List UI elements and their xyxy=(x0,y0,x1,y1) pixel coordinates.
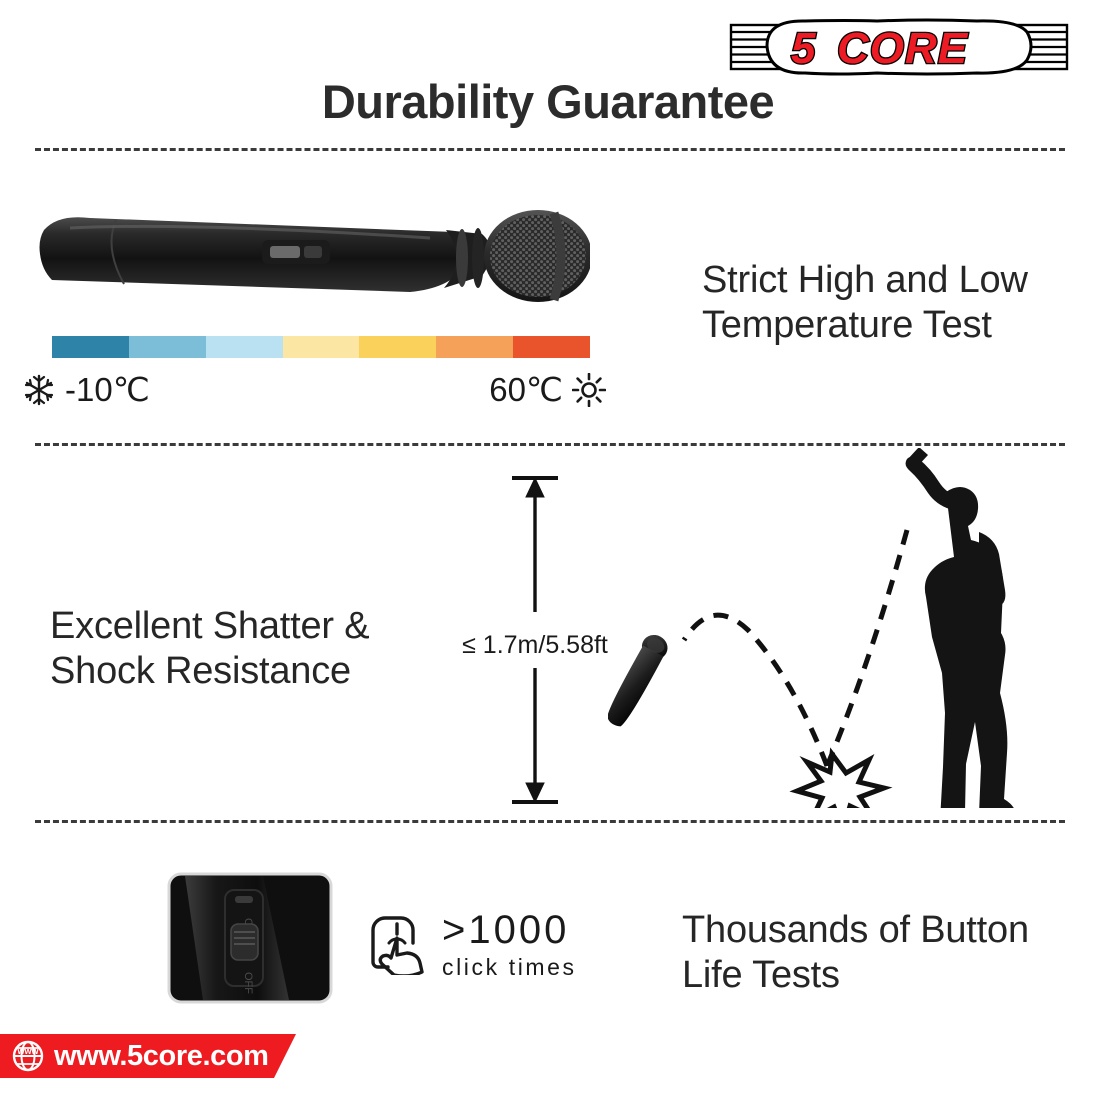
footer-url-text: www.5core.com xyxy=(54,1040,269,1073)
section-divider-1 xyxy=(35,148,1065,151)
footer-url-banner[interactable]: www www.5core.com xyxy=(0,1034,296,1078)
snowflake-icon xyxy=(22,373,56,407)
page-title: Durability Guarantee xyxy=(0,74,1096,129)
headline-shock-line1: Excellent Shatter & xyxy=(50,604,450,649)
click-life-text: >1000 click times xyxy=(442,910,577,979)
drop-test-illustration xyxy=(608,448,1060,808)
svg-text:www: www xyxy=(16,1046,39,1056)
headline-shock-resistance: Excellent Shatter & Shock Resistance xyxy=(50,604,450,694)
section-divider-3 xyxy=(35,820,1065,823)
logo-text-5: 5 xyxy=(791,24,816,73)
headline-shock-line2: Shock Resistance xyxy=(50,649,450,694)
impact-starburst xyxy=(797,754,884,808)
headline-button-life: Thousands of Button Life Tests xyxy=(682,908,1082,998)
temp-segment-7 xyxy=(513,336,590,358)
switch-housing: ON OFF xyxy=(225,890,263,994)
drop-height-label: ≤ 1.7m/5.58ft xyxy=(440,631,630,660)
logo-wordmark: 5 CORE xyxy=(767,20,1031,74)
finger-press-icon xyxy=(368,913,430,975)
temp-segment-5 xyxy=(359,336,436,358)
microphone-switch-closeup-photo: ON OFF xyxy=(167,872,333,1004)
headline-button-life-line1: Thousands of Button xyxy=(682,908,1082,953)
temperature-gradient-bar xyxy=(52,336,590,358)
temp-segment-2 xyxy=(129,336,206,358)
sun-icon xyxy=(572,373,606,407)
switch-off-label: OFF xyxy=(242,972,254,994)
temp-segment-1 xyxy=(52,336,129,358)
headline-button-life-line2: Life Tests xyxy=(682,953,1082,998)
click-times-label: click times xyxy=(442,956,577,979)
temp-segment-6 xyxy=(436,336,513,358)
microphone-product-photo xyxy=(30,188,590,320)
trajectory-path xyxy=(684,530,907,766)
brand-logo: 5 CORE xyxy=(727,16,1071,78)
logo-text-core: CORE xyxy=(837,24,969,73)
section-divider-2 xyxy=(35,443,1065,446)
infographic-page: 5 CORE Durability Guarantee xyxy=(0,0,1096,1096)
temp-segment-3 xyxy=(206,336,283,358)
temperature-high: 60℃ xyxy=(489,370,606,409)
microphone-switch xyxy=(262,240,330,264)
headline-temperature-test: Strict High and Low Temperature Test xyxy=(702,258,1072,348)
person-silhouette xyxy=(906,448,1017,808)
temperature-legend: -10℃ 60℃ xyxy=(22,370,622,416)
headline-temperature-line2: Temperature Test xyxy=(702,303,1072,348)
temp-segment-4 xyxy=(283,336,360,358)
temperature-high-label: 60℃ xyxy=(489,370,563,409)
click-count: >1000 xyxy=(442,910,577,950)
temperature-low: -10℃ xyxy=(22,370,150,409)
bounced-microphone xyxy=(608,630,672,730)
click-life-badge: >1000 click times xyxy=(368,906,608,982)
temperature-low-label: -10℃ xyxy=(65,370,150,409)
globe-www-icon: www xyxy=(12,1040,44,1072)
headline-temperature-line1: Strict High and Low xyxy=(702,258,1072,303)
